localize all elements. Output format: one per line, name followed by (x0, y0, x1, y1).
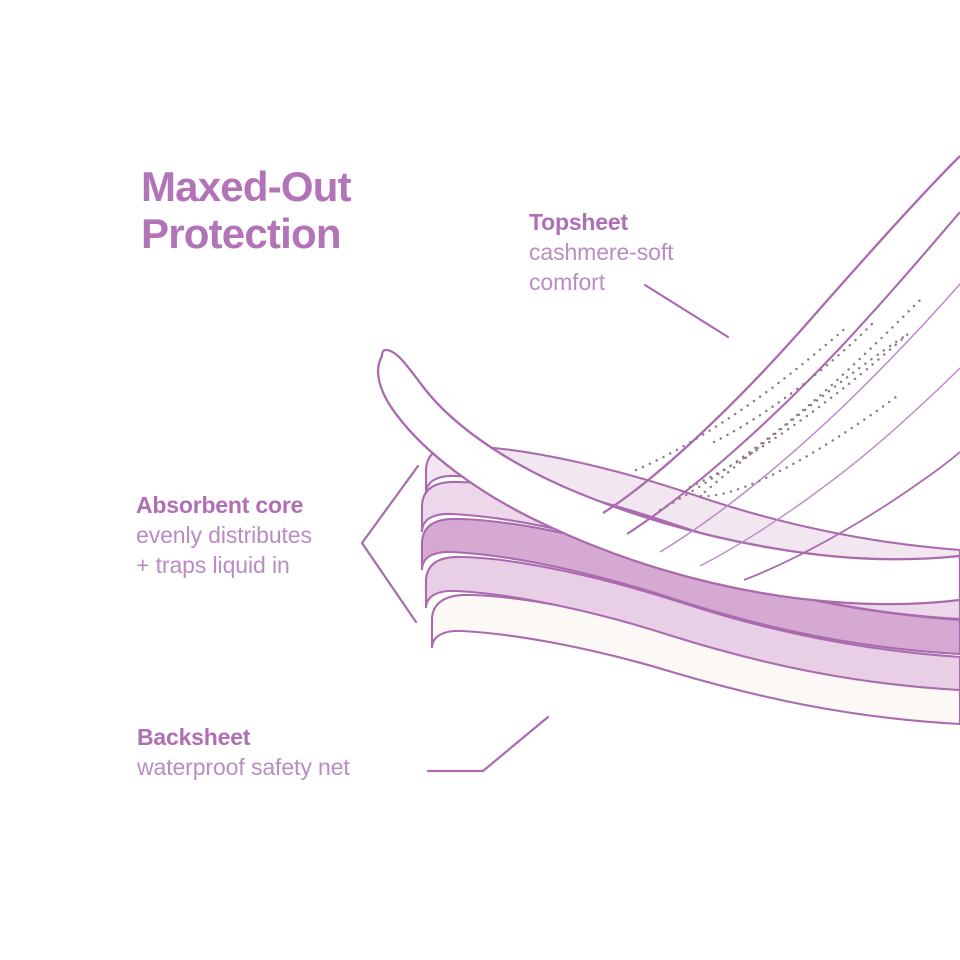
callout-topsheet-desc-line-2: comfort (529, 268, 673, 298)
quilting-dots-group (636, 300, 920, 510)
callout-absorbent-core-title: Absorbent core (136, 491, 312, 521)
page-title-line-1: Maxed-Out (141, 163, 351, 210)
page-title-line-2: Protection (141, 210, 351, 257)
quilt-dot-line-1 (660, 300, 920, 510)
callout-topsheet-title: Topsheet (529, 208, 673, 238)
diagram-page: Maxed-Out Protection Topsheet cashmere-s… (0, 0, 960, 960)
layered-pad-illustration (0, 0, 960, 960)
callout-backsheet-title: Backsheet (137, 723, 350, 753)
leader-bracket-absorbent-core (362, 466, 418, 622)
callout-topsheet: Topsheet cashmere-soft comfort (529, 208, 673, 298)
quilt-dot-line-3 (636, 326, 848, 470)
callout-topsheet-desc-line-1: cashmere-soft (529, 238, 673, 268)
leader-line-backsheet (428, 717, 548, 771)
callout-backsheet: Backsheet waterproof safety net (137, 723, 350, 783)
callout-absorbent-core-desc-line-2: + traps liquid in (136, 551, 312, 581)
callout-backsheet-desc-line-1: waterproof safety net (137, 753, 350, 783)
page-title: Maxed-Out Protection (141, 163, 351, 258)
topsheet-fold-line-2 (627, 212, 960, 534)
quilt-dot-line-2 (690, 334, 908, 496)
callout-absorbent-core-desc-line-1: evenly distributes (136, 521, 312, 551)
callout-absorbent-core: Absorbent core evenly distributes + trap… (136, 491, 312, 581)
